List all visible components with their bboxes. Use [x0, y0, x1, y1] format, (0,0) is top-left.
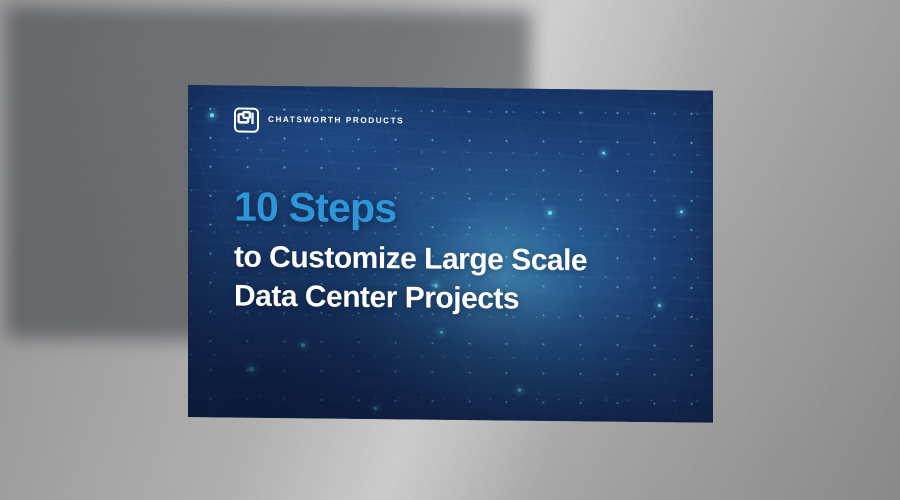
- ebook-cover-thumbnail[interactable]: CHATSWORTH PRODUCTS 10 Steps to Customiz…: [188, 85, 713, 417]
- headline-line-2: Data Center Projects: [234, 277, 587, 319]
- brand-logo-lockup: CHATSWORTH PRODUCTS: [234, 107, 404, 134]
- glow-node-icon: [249, 367, 254, 372]
- cpi-monogram-icon: [234, 107, 259, 132]
- brand-wordmark: CHATSWORTH PRODUCTS: [268, 116, 404, 126]
- page-backdrop: CHATSWORTH PRODUCTS 10 Steps to Customiz…: [0, 0, 900, 500]
- glow-node-icon: [602, 151, 605, 154]
- glow-node-icon: [658, 304, 661, 307]
- glow-node-icon: [374, 407, 377, 410]
- glow-node-icon: [440, 331, 443, 334]
- headline-main: to Customize Large Scale Data Center Pro…: [234, 239, 587, 320]
- glow-node-icon: [210, 113, 214, 117]
- cover-artboard: CHATSWORTH PRODUCTS 10 Steps to Customiz…: [188, 85, 713, 423]
- glow-node-icon: [518, 389, 521, 392]
- headline-eyebrow: 10 Steps: [234, 185, 587, 232]
- glow-node-icon: [680, 210, 683, 213]
- glow-node-icon: [301, 343, 305, 347]
- headline-line-1: to Customize Large Scale: [234, 239, 587, 281]
- cover-headline: 10 Steps to Customize Large Scale Data C…: [234, 185, 587, 319]
